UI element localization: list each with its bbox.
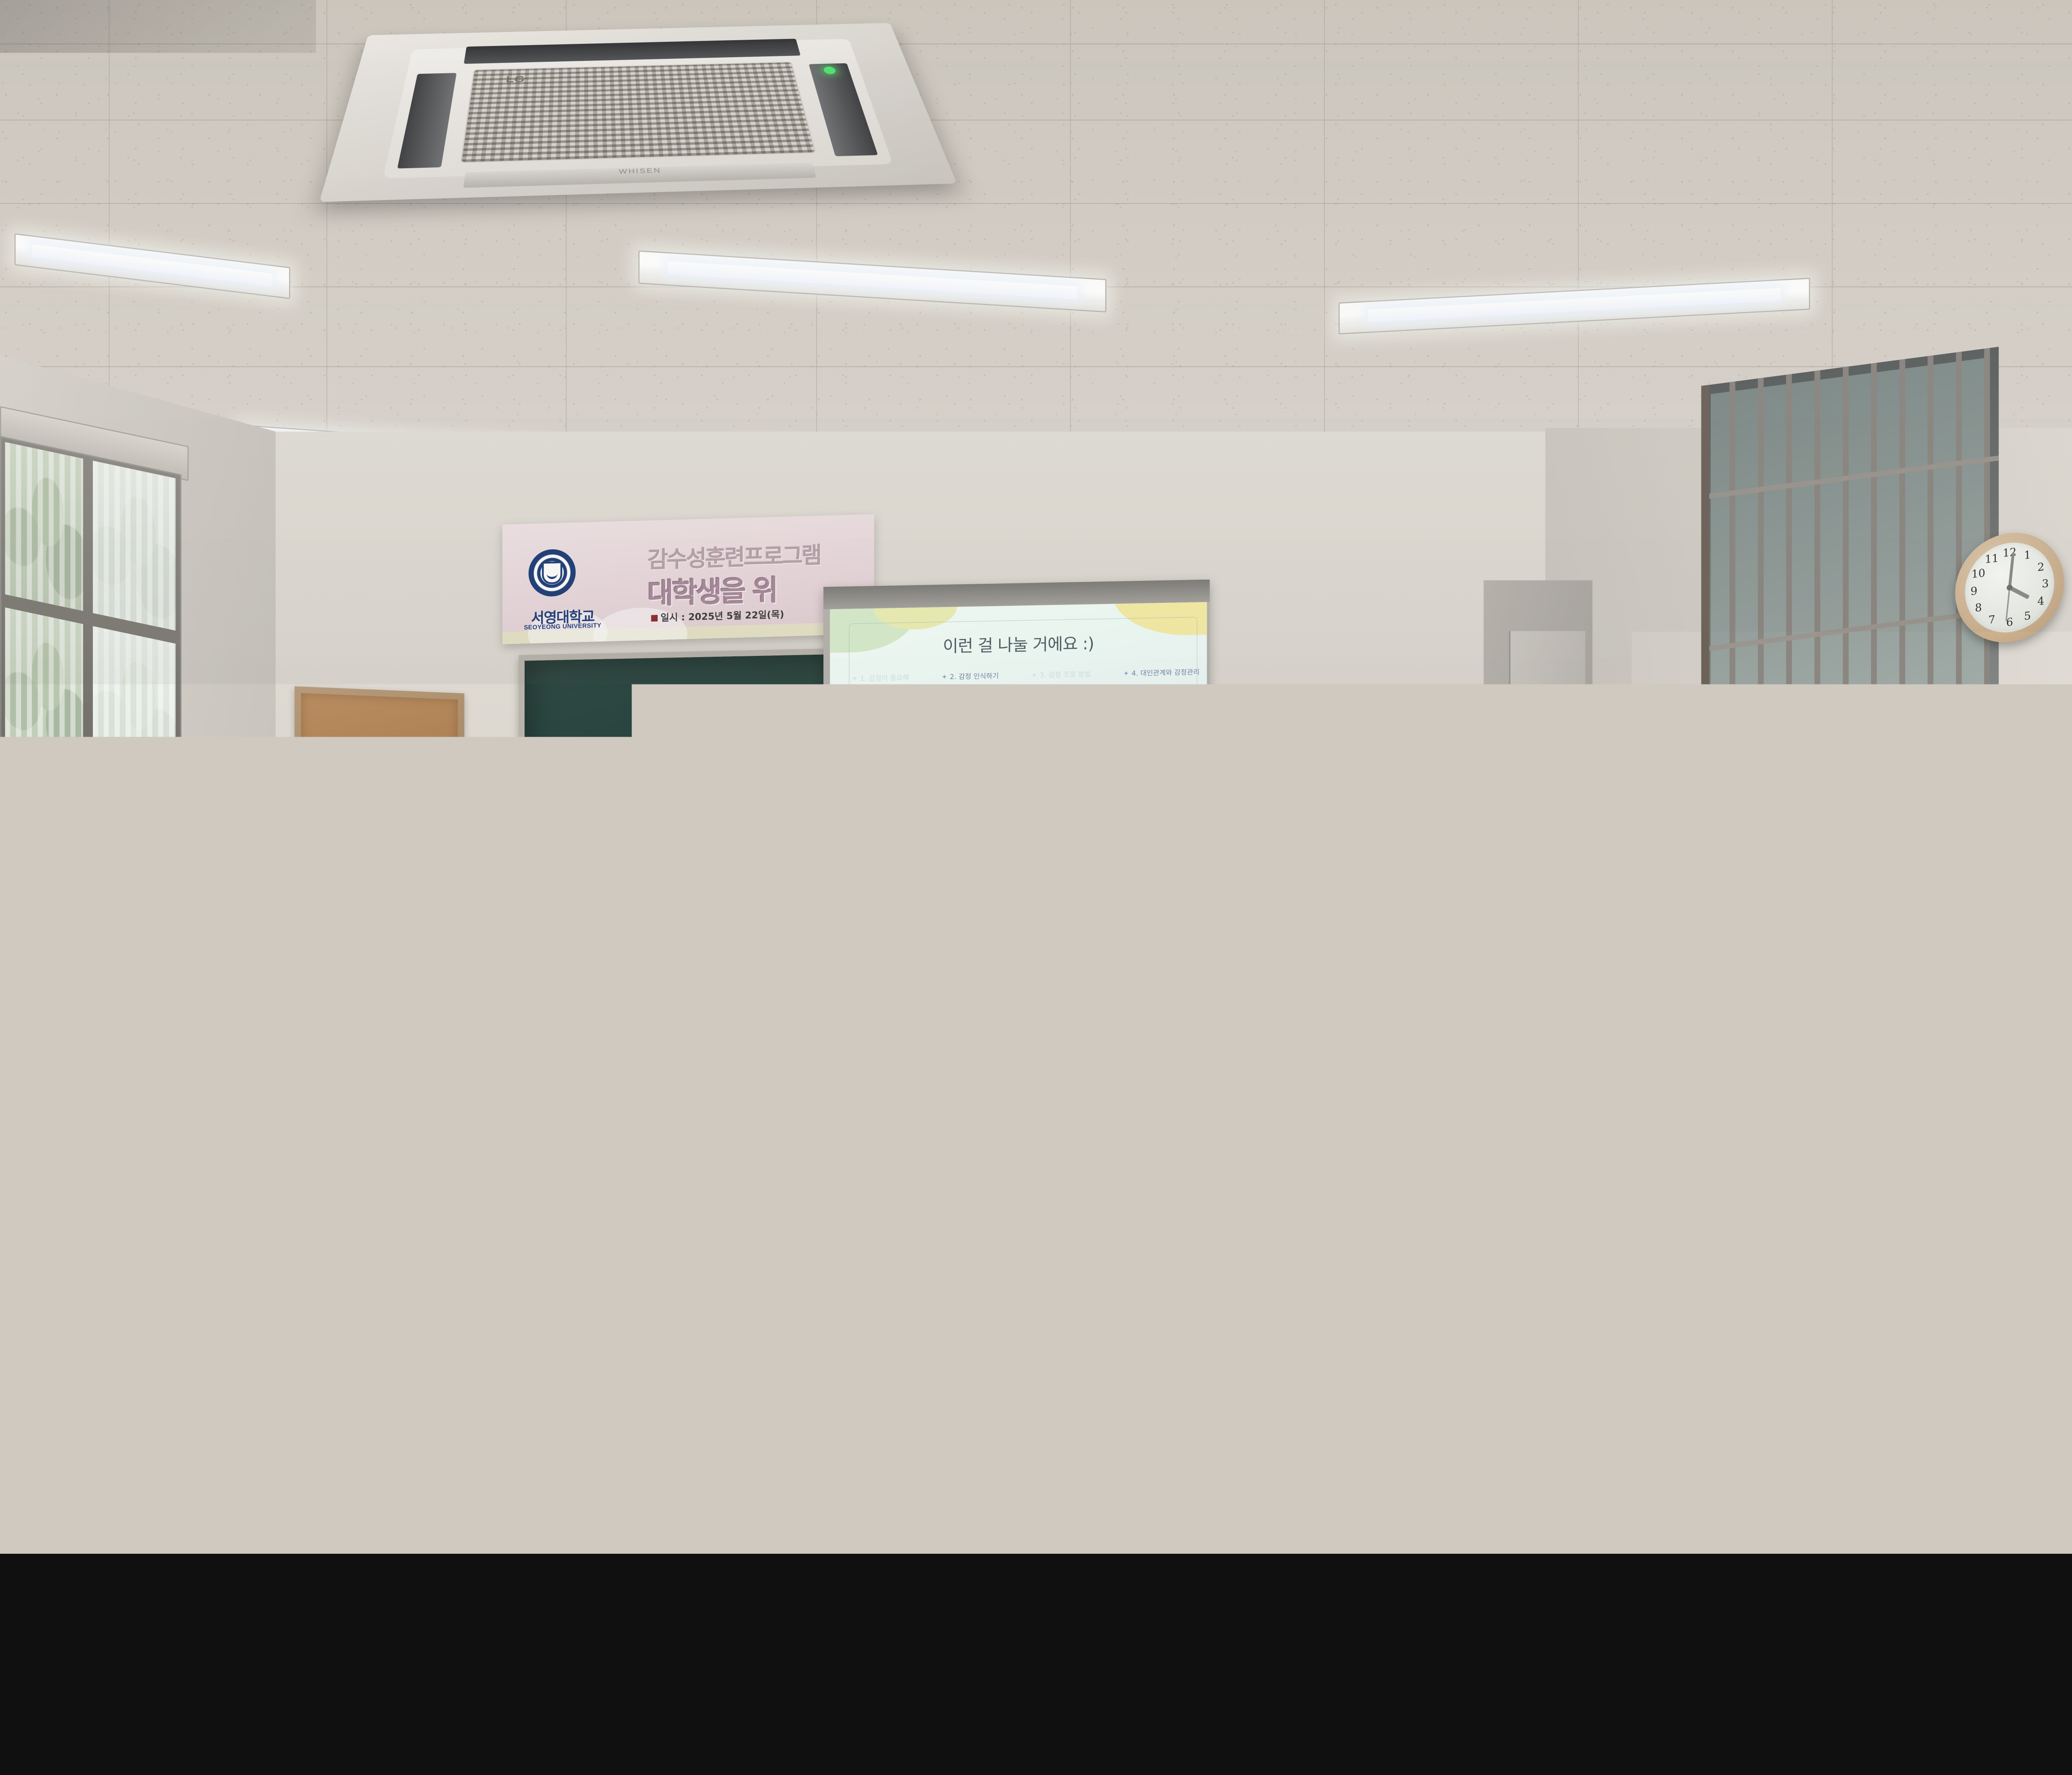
mlb-logo-icon [530, 1220, 557, 1237]
student-desk[interactable] [813, 970, 965, 1000]
student-body [29, 1436, 385, 1554]
slide-header-4: ✦4. 대인관계와 감정관리 [1123, 667, 1200, 678]
student-desk[interactable] [1117, 1013, 1270, 1045]
yankees-established: EST. 1903 [549, 1207, 584, 1214]
right-window-barred [1701, 347, 1999, 814]
red-pouch[interactable] [1233, 1458, 1284, 1491]
mood-meter-handout[interactable] [747, 1390, 907, 1486]
qr-notice-sheet: 비상 대피안내 / 출입기록 안내 알림 QR 코드 스캔 [1253, 801, 1284, 847]
lg-logo: LG [505, 74, 525, 85]
slide-header-3: ✦3. 감정 조절 방법 [1031, 669, 1091, 680]
slide-character-2: •﹏• [1051, 750, 1091, 787]
slide-character-1: >︿< [998, 751, 1038, 788]
presenter-hair-left [684, 844, 707, 908]
slide-header-2: ✦2. 감정 인식하기 [942, 670, 999, 681]
navy-jacket-student [395, 1454, 722, 1554]
textbook[interactable] [1988, 1203, 2072, 1260]
student-body [1701, 1081, 1883, 1248]
poster-program-outcomes: 프로그램 학습성과 [1323, 720, 1365, 789]
snack-wrapper[interactable] [789, 1310, 840, 1349]
university-crest-icon [528, 549, 576, 597]
qr-code-icon [1995, 828, 2014, 853]
student-head [11, 852, 105, 961]
mood-meter-title: MOOD METER [1891, 1257, 1937, 1267]
poster-education-purpose: 교육 목적 교육 목표 [1269, 722, 1312, 792]
mood-meter-grid [1891, 1265, 2031, 1332]
slide-column-3: - 마음챙김 호흡법 - 인지재구조화 전략 등 [1030, 695, 1100, 725]
slide-emotion-characters: ^ ‿ ^ >︿< •﹏• ╥﹏╥ -‸- [942, 750, 1095, 829]
classroom-photo-scene: LG WHISEN [0, 0, 2072, 1554]
program-title-line2: 대학생을 위 [648, 568, 777, 612]
event-banner: 서영대학교 SEOYEONG UNIVERSITY 감수성훈련프로그램 대학생을… [502, 514, 874, 644]
slide-header-1: ✦1. 감정이 중요해 [852, 672, 909, 683]
qr-code-icon [1261, 817, 1276, 834]
slide-column-4: - I-MESSAGE 기법 - 효과적인 감정 표현 방법 [1122, 693, 1201, 723]
glasses-icon [703, 798, 727, 804]
slide-character-4: -‸- [998, 791, 1038, 828]
mood-meter-grid [760, 1407, 894, 1475]
notebook-paper[interactable] [25, 1265, 141, 1349]
slide-character-0: ^ ‿ ^ [946, 752, 985, 789]
slide-character-3: ╥﹏╥ [946, 792, 985, 829]
water-bottle[interactable] [1654, 943, 1672, 997]
clock-face: 12 1 2 3 4 5 6 7 8 9 10 11 [1965, 538, 2054, 637]
yankees-cap: Yankees EST. 1903 [468, 1132, 624, 1251]
water-bottle[interactable] [1143, 961, 1162, 1021]
qr-code-icon [425, 795, 439, 812]
stitch-cup-sleeve [851, 1255, 905, 1296]
projection-screen: 이런 걸 나눌 거에요 :) ✦1. 감정이 중요해 ✦2. 감정 인식하기 ✦… [823, 580, 1210, 834]
shirt-sub-text: youthful line acting [0, 1108, 56, 1117]
checkered-shirt-student [109, 1084, 305, 1273]
lemon-tumbler[interactable] [1738, 1175, 1763, 1258]
slide-column-1: - 감정 인식의 필요성 - 감정이 미치는 영향 [851, 698, 914, 728]
qr-notice-sheet: 비상 대피안내 / 출입기록 안내 알림 QR 코드 스캔 [416, 779, 448, 826]
grey-cap [1041, 1121, 1193, 1241]
qr-notice-sheet: 비상 대피안내 / 출입기록 안내 알림 QR 코드 스캔 [1984, 812, 2024, 875]
shirt-main-text: BRING IT [0, 1023, 169, 1067]
warning-icon: ! [1542, 805, 1552, 818]
pencil-case[interactable] [1552, 1193, 1654, 1248]
right-wall-bulletin-board: 교육 목적 교육 목표 프로그램 학습성과 [1242, 699, 1392, 811]
cinnamoroll-character-icon [1587, 1211, 1616, 1234]
presentation-slide: 이런 걸 나눌 거에요 :) ✦1. 감정이 중요해 ✦2. 감정 인식하기 ✦… [830, 602, 1207, 833]
student-head [156, 979, 254, 1095]
student-body [885, 1048, 1055, 1212]
stitch-drink-cup[interactable] [849, 1200, 907, 1324]
ceiling-air-conditioner: LG WHISEN [319, 23, 957, 202]
slide-character-5: •︿• [1051, 790, 1091, 827]
iced-drink-cup[interactable] [581, 1436, 661, 1554]
slide-column-2: - 무드미터 소개 - 다양한 감정 표현 방법 [936, 696, 1008, 727]
ac-sublabel: WHISEN [619, 167, 661, 176]
fire-door-sign: ! 방 화 문 [1523, 800, 1572, 832]
left-window-frame [0, 436, 182, 801]
stitch-character-icon [857, 1266, 872, 1281]
yankees-text: Yankees [506, 1180, 581, 1201]
